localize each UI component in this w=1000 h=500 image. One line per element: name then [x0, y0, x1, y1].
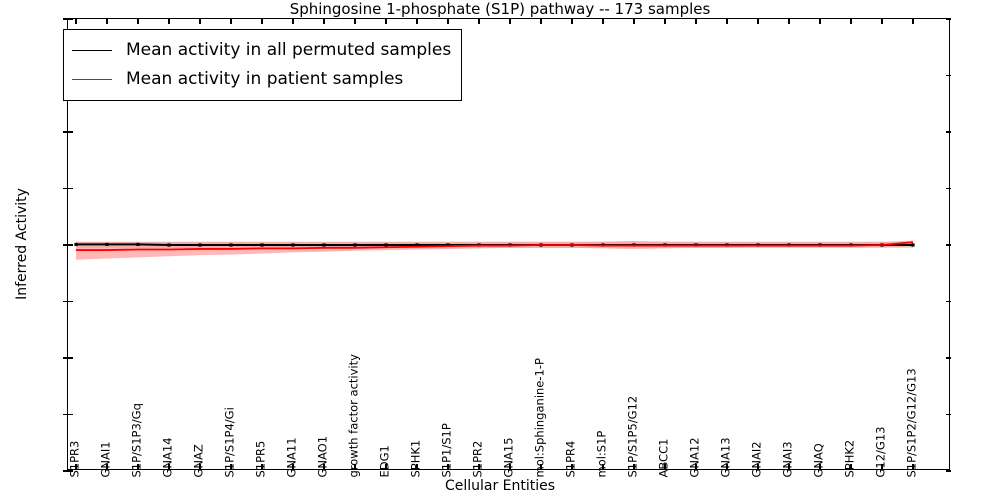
series-marker: [291, 243, 294, 246]
x-tick-label: S1P/S1P2/G12/G13: [906, 368, 918, 477]
x-tick-label: mol:S1P: [596, 431, 608, 478]
y-tick-mark-inner: [68, 357, 73, 358]
y-tick-mark-inner: [68, 188, 73, 189]
x-tick-mark-top: [726, 19, 727, 24]
legend[interactable]: Mean activity in all permuted samples Me…: [63, 29, 462, 101]
y-tick-mark-inner: [68, 244, 73, 245]
series-marker: [198, 243, 201, 246]
series-marker: [105, 243, 108, 246]
y-tick-mark-right: [946, 301, 951, 302]
x-tick-label: growth factor activity: [348, 354, 360, 477]
y-tick-mark-right: [946, 18, 951, 19]
series-marker: [260, 243, 263, 246]
x-tick-mark-top: [416, 19, 417, 24]
x-tick-mark-top: [354, 19, 355, 24]
x-tick-label: GNAI1: [100, 441, 112, 477]
x-axis-label: Cellular Entities: [0, 478, 1000, 494]
y-tick-mark-inner: [68, 414, 73, 415]
series-marker: [694, 243, 697, 246]
series-marker: [632, 243, 635, 246]
x-tick-mark-top: [757, 19, 758, 24]
series-marker: [570, 243, 573, 246]
legend-line-red-icon: [72, 79, 112, 80]
y-tick-mark-inner: [68, 301, 73, 302]
x-tick-mark-top: [168, 19, 169, 24]
x-tick-mark-top: [292, 19, 293, 24]
x-tick-label: GNAO1: [317, 436, 329, 478]
series-marker: [818, 243, 821, 246]
figure: Sphingosine 1-phosphate (S1P) pathway --…: [0, 0, 1000, 500]
x-tick-mark-top: [199, 19, 200, 24]
y-tick-mark-right: [946, 188, 951, 189]
series-marker: [415, 243, 418, 246]
series-marker: [725, 243, 728, 246]
series-marker: [74, 243, 77, 246]
series-marker: [229, 243, 232, 246]
chart-title: Sphingosine 1-phosphate (S1P) pathway --…: [0, 0, 1000, 18]
series-marker: [322, 243, 325, 246]
legend-label-permuted: Mean activity in all permuted samples: [126, 42, 451, 59]
legend-line-black-icon: [72, 50, 112, 51]
series-marker: [167, 243, 170, 246]
series-marker: [539, 243, 542, 246]
y-tick-mark-right: [946, 357, 951, 358]
series-marker: [880, 243, 883, 246]
series-marker: [787, 243, 790, 246]
series-marker: [508, 243, 511, 246]
x-tick-mark-top: [633, 19, 634, 24]
x-tick-label: GNA11: [286, 437, 298, 477]
x-tick-mark-top: [912, 19, 913, 24]
x-tick-mark-top: [509, 19, 510, 24]
x-tick-label: S1P/S1P4/Gi: [224, 407, 236, 477]
y-tick-mark-inner: [68, 18, 73, 19]
x-tick-mark-top: [571, 19, 572, 24]
legend-item-permuted: Mean activity in all permuted samples: [72, 36, 451, 65]
x-tick-mark-top: [261, 19, 262, 24]
x-tick-label: GNA12: [689, 437, 701, 477]
x-tick-label: GNAI2: [751, 441, 763, 477]
x-tick-mark-top: [385, 19, 386, 24]
x-tick-label: S1PR4: [565, 441, 577, 478]
x-tick-label: S1P/S1P3/Gq: [131, 403, 143, 477]
x-tick-label: S1PR2: [472, 441, 484, 478]
x-tick-mark-top: [602, 19, 603, 24]
y-tick-mark-right: [946, 244, 951, 245]
series-marker: [601, 243, 604, 246]
x-tick-mark-top: [75, 19, 76, 24]
x-tick-mark-top: [540, 19, 541, 24]
x-tick-label: G12/G13: [875, 427, 887, 478]
x-tick-label: S1P1/S1P: [441, 423, 453, 477]
series-marker: [353, 243, 356, 246]
x-tick-label: S1PR3: [69, 441, 81, 478]
legend-item-patient: Mean activity in patient samples: [72, 65, 451, 94]
series-marker: [384, 243, 387, 246]
y-tick-mark-right: [946, 131, 951, 132]
x-tick-mark-top: [788, 19, 789, 24]
series-marker: [849, 243, 852, 246]
y-tick-mark-right: [946, 414, 951, 415]
x-tick-label: GNAZ: [193, 444, 205, 477]
x-tick-label: SPHK2: [844, 440, 856, 478]
series-band-patient: [76, 240, 913, 259]
x-tick-mark-top: [137, 19, 138, 24]
x-tick-mark-top: [881, 19, 882, 24]
x-tick-label: GNAQ: [813, 443, 825, 477]
x-tick-mark-top: [664, 19, 665, 24]
series-line-permuted: [76, 244, 913, 245]
x-tick-mark-top: [447, 19, 448, 24]
x-tick-mark-top: [323, 19, 324, 24]
x-tick-mark-top: [106, 19, 107, 24]
series-line-patient: [76, 242, 913, 250]
x-tick-label: GNAI3: [782, 441, 794, 477]
y-axis-label: Inferred Activity: [14, 188, 30, 300]
x-tick-label: SPHK1: [410, 440, 422, 478]
x-tick-label: S1P/S1P5/G12: [627, 396, 639, 478]
legend-label-patient: Mean activity in patient samples: [126, 71, 403, 88]
x-tick-label: EDG1: [379, 445, 391, 477]
x-tick-mark-top: [819, 19, 820, 24]
x-tick-label: GNA14: [162, 437, 174, 477]
y-tick-mark-right: [946, 75, 951, 76]
series-marker: [756, 243, 759, 246]
x-tick-label: S1PR5: [255, 441, 267, 478]
x-tick-label: ABCC1: [658, 439, 670, 478]
x-tick-label: mol:Sphinganine-1-P: [534, 358, 546, 477]
series-marker: [663, 243, 666, 246]
series-marker: [446, 243, 449, 246]
x-tick-label: GNA13: [720, 437, 732, 477]
series-marker: [136, 243, 139, 246]
x-tick-mark-top: [850, 19, 851, 24]
series-marker: [477, 243, 480, 246]
x-tick-mark-top: [478, 19, 479, 24]
x-tick-mark-top: [695, 19, 696, 24]
x-tick-label: GNA15: [503, 437, 515, 477]
series-band-permuted: [76, 242, 913, 248]
x-tick-mark-top: [230, 19, 231, 24]
y-tick-mark-right: [946, 470, 951, 471]
series-marker: [911, 243, 914, 246]
y-tick-mark-inner: [68, 131, 73, 132]
